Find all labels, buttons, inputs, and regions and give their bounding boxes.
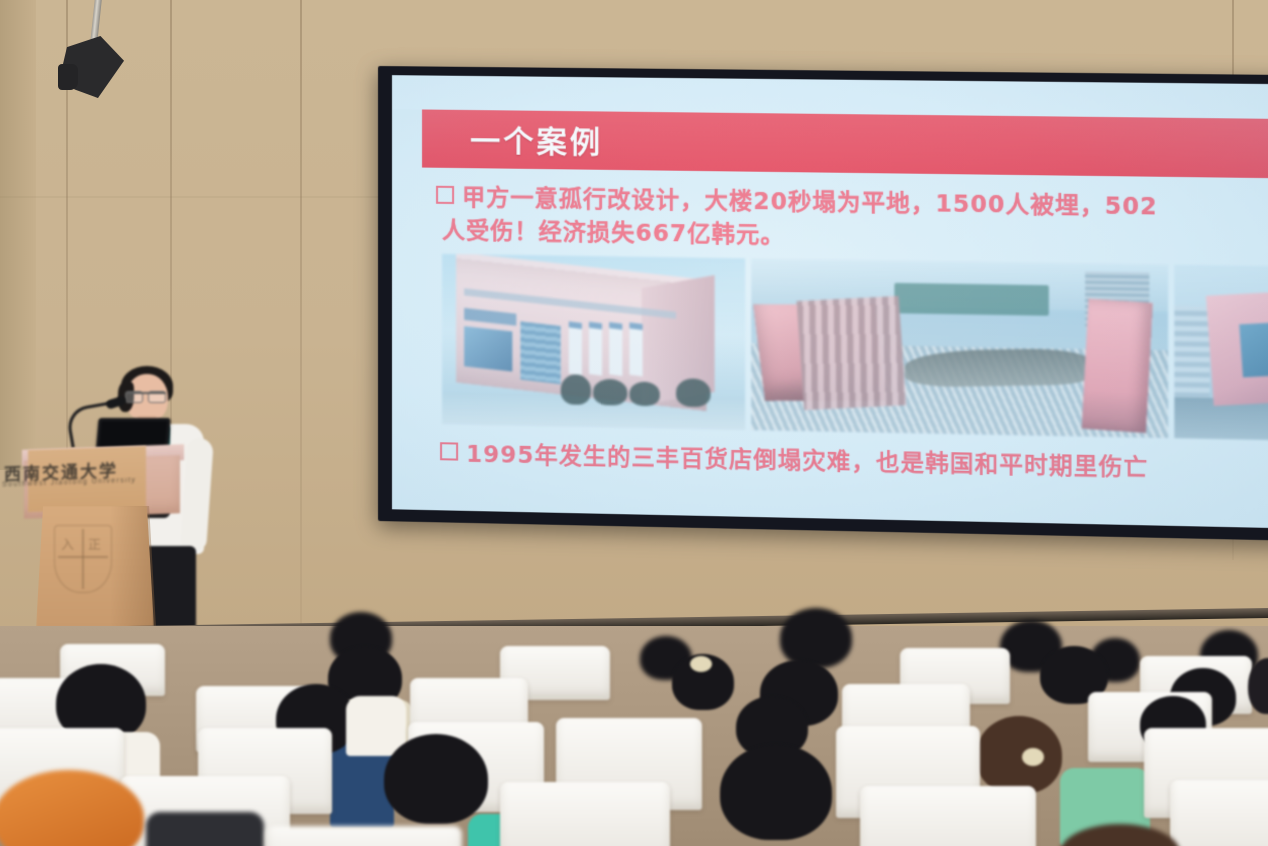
audience-chair — [266, 826, 462, 846]
crest-divider — [82, 529, 84, 589]
audience-head — [720, 744, 832, 840]
hair-tie — [690, 656, 712, 672]
photo1-tree — [561, 374, 591, 405]
photo-collapse-rubble — [751, 258, 1168, 438]
photo-aerial-collapse — [1174, 265, 1268, 442]
photo2-slab-left-inner — [796, 296, 906, 410]
photo2-slab-right — [1082, 299, 1153, 434]
photo1-tree — [593, 379, 627, 406]
university-crest-icon: 入 正 — [54, 525, 112, 593]
photo1-banner — [609, 322, 622, 376]
audience-head — [384, 734, 488, 824]
photo1-window-panel — [464, 326, 512, 372]
photo1-tree — [629, 381, 659, 406]
bullet-2-line-1: 1995年发生的三丰百货店倒塌灾难，也是韩国和平时期里伤亡 — [466, 442, 1148, 482]
bullet-1-line-2: 人受伤！经济损失667亿韩元。 — [442, 215, 1268, 261]
audience-head — [780, 608, 852, 668]
spotlight-knob — [58, 64, 78, 90]
audience-head — [976, 716, 1062, 794]
crest-glyph: 正 — [88, 534, 101, 553]
wall-left-panel — [0, 0, 36, 470]
bullet-square-icon — [440, 442, 458, 460]
hair-tie — [1022, 748, 1044, 766]
audience-torso — [346, 696, 406, 756]
photo3-adjacent-block — [1174, 306, 1209, 398]
bullet-1-line-1: 甲方一意孤行改设计，大楼20秒塌为平地，1500人被埋，502 — [462, 185, 1158, 221]
photo1-tree — [676, 378, 711, 407]
slide-bullet-1: 甲方一意孤行改设计，大楼20秒塌为平地，1500人被埋，502 人受伤！经济损失… — [436, 182, 1268, 261]
photo1-banner — [589, 322, 602, 376]
lecture-hall-photo: 一个案例 甲方一意孤行改设计，大楼20秒塌为平地，1500人被埋，502 人受伤… — [0, 0, 1268, 846]
slide-photo-row — [442, 254, 1268, 442]
audience-chair — [500, 782, 670, 846]
glasses-bridge — [126, 392, 166, 403]
audience-chair — [860, 786, 1036, 846]
photo2-collapse-pit — [904, 348, 1091, 388]
presentation-slide: 一个案例 甲方一意孤行改设计，大楼20秒塌为平地，1500人被埋，502 人受伤… — [392, 75, 1268, 528]
audience-torso-foreground — [146, 812, 264, 846]
crest-glyph: 入 — [61, 534, 74, 553]
photo3-collapse-hole — [1239, 322, 1268, 377]
photo1-banner — [569, 321, 582, 375]
photo-building-before — [442, 254, 745, 430]
slide-title: 一个案例 — [470, 116, 603, 162]
audience-chair — [1170, 780, 1268, 846]
audience-area — [0, 600, 1268, 846]
photo1-glass-atrium — [520, 321, 560, 384]
photo1-banner — [629, 322, 642, 376]
crest-divider — [58, 556, 108, 558]
photo2-background-buildings — [894, 283, 1048, 316]
projection-screen: 一个案例 甲方一意孤行改设计，大楼20秒塌为平地，1500人被埋，502 人受伤… — [378, 66, 1268, 541]
bullet-square-icon — [436, 186, 454, 204]
slide-bullet-2: 1995年发生的三丰百货店倒塌灾难，也是韩国和平时期里伤亡 — [440, 434, 1268, 486]
screen-surface: 一个案例 甲方一意孤行改设计，大楼20秒塌为平地，1500人被埋，502 人受伤… — [392, 75, 1268, 528]
wall-seam — [300, 0, 302, 660]
